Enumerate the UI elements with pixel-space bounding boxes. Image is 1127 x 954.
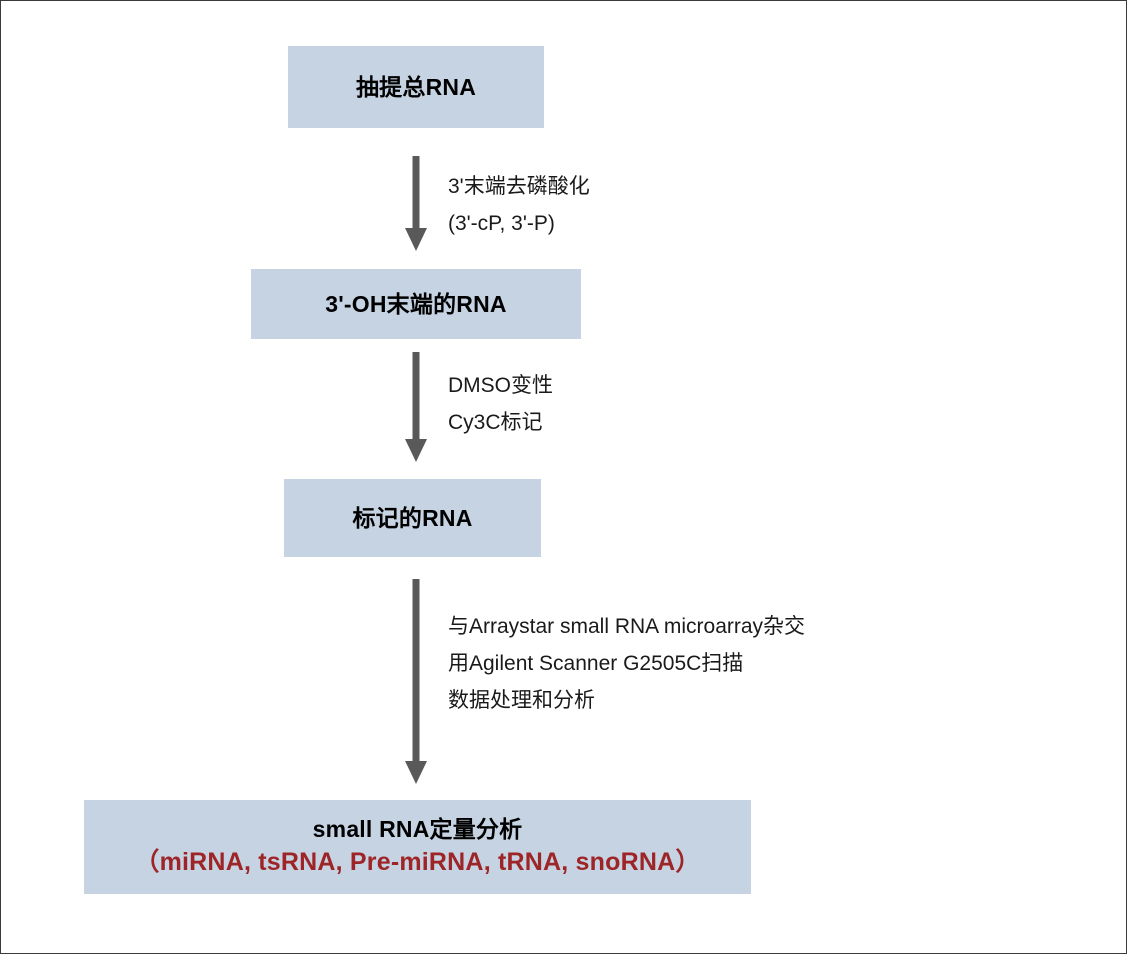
edge-label-2: DMSO变性 Cy3C标记	[448, 368, 553, 442]
arrow-head	[405, 761, 427, 784]
node-oh-end-rna-label: 3'-OH末端的RNA	[325, 290, 506, 319]
node-oh-end-rna: 3'-OH末端的RNA	[251, 269, 581, 339]
node-total-rna-label: 抽提总RNA	[356, 73, 476, 102]
arrow-down-icon-2	[404, 352, 428, 462]
node-small-rna-quantification: small RNA定量分析 （miRNA, tsRNA, Pre-miRNA, …	[84, 800, 751, 894]
edge-label-3-line-2: 用Agilent Scanner G2505C扫描	[448, 646, 805, 683]
edge-label-1-line-2: (3'-cP, 3'-P)	[448, 206, 590, 243]
node-labeled-rna: 标记的RNA	[284, 479, 541, 557]
edge-label-2-line-2: Cy3C标记	[448, 405, 553, 442]
node-labeled-rna-label: 标记的RNA	[352, 504, 472, 533]
edge-label-1-line-1: 3'末端去磷酸化	[448, 169, 590, 206]
arrow-down-icon-1	[404, 156, 428, 251]
arrow-head	[405, 228, 427, 251]
edge-label-2-line-1: DMSO变性	[448, 368, 553, 405]
node-total-rna: 抽提总RNA	[288, 46, 544, 128]
edge-label-1: 3'末端去磷酸化 (3'-cP, 3'-P)	[448, 169, 590, 243]
arrow-head	[405, 439, 427, 462]
arrow-down-icon-3	[404, 579, 428, 784]
arrow-shaft	[413, 156, 420, 228]
node-quant-label-primary: small RNA定量分析	[313, 815, 523, 844]
node-quant-label-rna-types: （miRNA, tsRNA, Pre-miRNA, tRNA, snoRNA）	[134, 846, 700, 879]
arrow-shaft	[413, 352, 420, 439]
edge-label-3-line-1: 与Arraystar small RNA microarray杂交	[448, 609, 805, 646]
edge-label-3-line-3: 数据处理和分析	[448, 683, 805, 720]
arrow-shaft	[413, 579, 420, 761]
edge-label-3: 与Arraystar small RNA microarray杂交 用Agile…	[448, 609, 805, 719]
flowchart-canvas: 抽提总RNA 3'末端去磷酸化 (3'-cP, 3'-P) 3'-OH末端的RN…	[0, 0, 1127, 954]
